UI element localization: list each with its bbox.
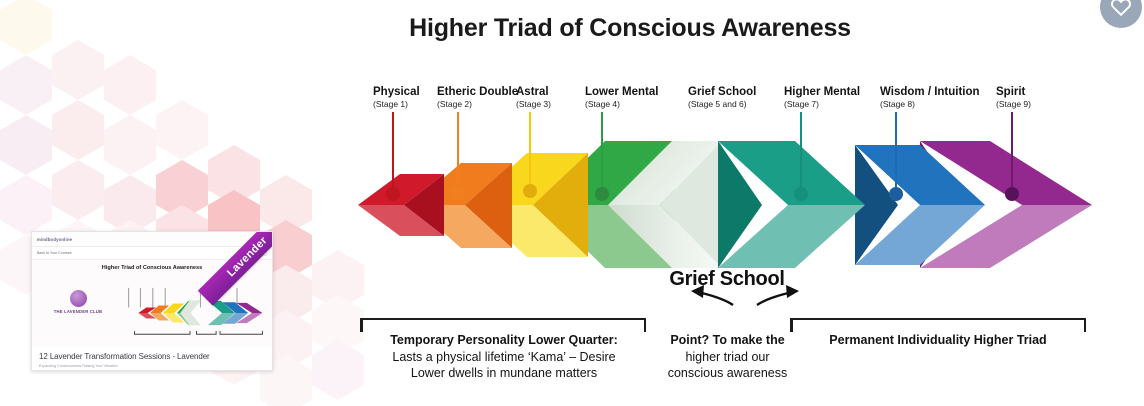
stage-label-higher-mental: Higher Mental (Stage 7) [784, 86, 860, 110]
grief-school-arrows [696, 292, 794, 305]
caption-middle-line1: Point? To make the [655, 332, 800, 349]
caption-middle-line3: conscious awareness [655, 365, 800, 382]
pin-wisdom-intuition [895, 112, 897, 194]
course-title: 12 Lavender Transformation Sessions - La… [39, 352, 265, 361]
thumbnail-footer: 12 Lavender Transformation Sessions - La… [32, 347, 272, 368]
stage-label-astral: Astral (Stage 3) [516, 86, 551, 110]
pin-physical [392, 112, 394, 194]
caption-middle-line2: higher triad our [655, 349, 800, 366]
caption-left-line2: Lasts a physical lifetime ‘Kama’ – Desir… [356, 349, 652, 366]
pin-higher-mental [800, 112, 802, 194]
grief-school-heading: Grief School [662, 268, 792, 291]
course-subtitle: Expanding Consciousness Raising Your Vib… [39, 364, 265, 368]
stage-label-physical: Physical (Stage 1) [373, 86, 420, 110]
stage-label-wisdom-intuition: Wisdom / Intuition (Stage 8) [880, 86, 980, 110]
thumbnail-topbar: mindbodyonline [32, 232, 272, 247]
pin-spirit [1011, 112, 1013, 194]
stage-label-lower-mental: Lower Mental (Stage 4) [585, 86, 658, 110]
bracket-left [360, 318, 646, 320]
caption-right-line1: Permanent Individuality Higher Triad [790, 332, 1086, 349]
pin-etheric-double [457, 112, 459, 193]
thumbnail-mini-diagram [110, 282, 270, 344]
caption-left-line3: Lower dwells in mundane matters [356, 365, 652, 382]
pin-lower-mental [601, 112, 603, 194]
arrow-physical [358, 174, 444, 236]
club-orb-icon [70, 290, 87, 307]
screenshot-root: Higher Triad of Conscious Awareness [0, 0, 1144, 406]
stage-label-etheric-double: Etheric Double (Stage 2) [437, 86, 518, 110]
arrow-higher-mental [718, 141, 865, 268]
stage-label-spirit: Spirit (Stage 9) [996, 86, 1031, 110]
caption-left-line1: Temporary Personality Lower Quarter: [356, 332, 652, 349]
thumbnail-back-link[interactable]: Back to Your Courses [37, 251, 72, 255]
bracket-right [790, 318, 1086, 320]
thumbnail-club-logo: THE LAVENDER CLUB [46, 290, 110, 314]
club-name: THE LAVENDER CLUB [46, 309, 110, 314]
caption-right: Permanent Individuality Higher Triad [790, 332, 1086, 349]
caption-middle: Point? To make the higher triad our cons… [655, 332, 800, 382]
caption-left: Temporary Personality Lower Quarter: Las… [356, 332, 652, 382]
course-thumbnail-card[interactable]: mindbodyonline Back to Your Courses High… [31, 231, 273, 371]
thumbnail-logo: mindbodyonline [37, 237, 72, 242]
stage-label-grief-school: Grief School (Stage 5 and 6) [688, 86, 756, 110]
pin-astral [529, 112, 531, 191]
